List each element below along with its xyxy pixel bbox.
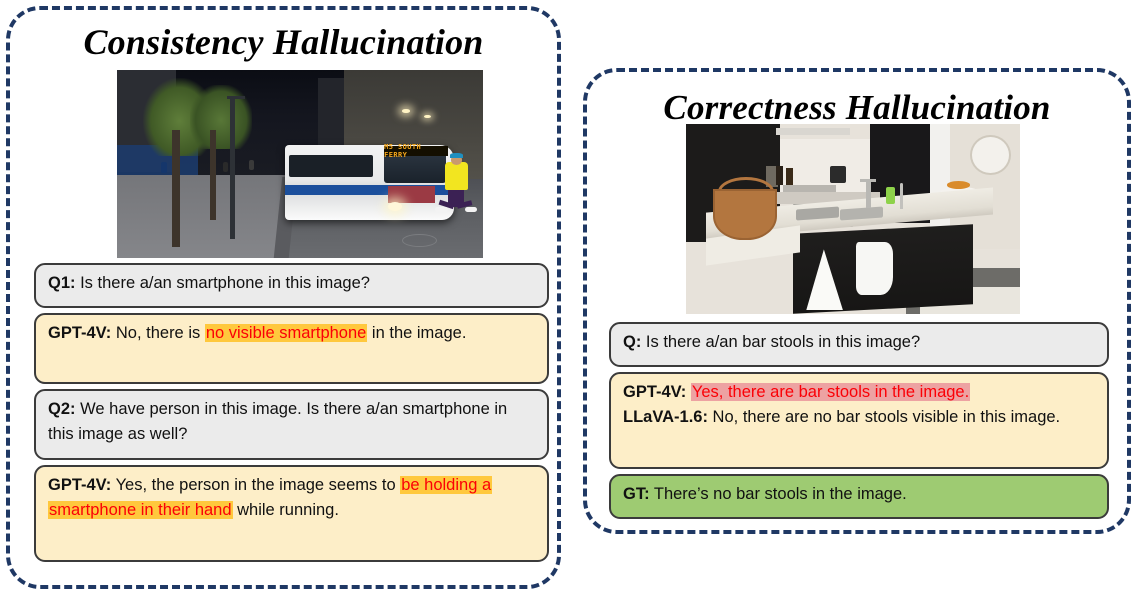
qa-bubble-answers: GPT-4V: Yes, there are bar stools in the… xyxy=(609,372,1109,469)
photo-faucet-2 xyxy=(900,183,904,210)
photo-tree-trunk-1 xyxy=(172,130,180,247)
panel-correctness-hallucination: Correctness Hallucination xyxy=(583,68,1131,534)
photo-tree-foliage-2 xyxy=(190,85,252,149)
qa-bubble-answer-2: GPT-4V: Yes, the person in the image see… xyxy=(34,465,549,562)
photo-bus-advertisement xyxy=(388,186,436,203)
qa-ground-truth-text: There’s no bar stools in the image. xyxy=(650,485,907,503)
qa-bubble-question-2: Q2: We have person in this image. Is the… xyxy=(34,389,549,460)
photo-pedestrian-1 xyxy=(161,162,167,173)
photo-sidewalk xyxy=(117,175,285,258)
photo-manhole-cover xyxy=(402,234,437,247)
qa-question-text: We have person in this image. Is there a… xyxy=(48,400,507,443)
qa-bubble-answer-1: GPT-4V: No, there is no visible smartpho… xyxy=(34,313,549,384)
photo-fruit xyxy=(947,181,970,189)
qa-answer-text-before: Yes, the person in the image seems to xyxy=(111,476,400,494)
kitchen-scene-photo xyxy=(686,124,1020,314)
qa-bubble-ground-truth: GT: There’s no bar stools in the image. xyxy=(609,474,1109,519)
street-scene-photo: M5 SOUTH FERRY xyxy=(117,70,483,258)
qa-speaker-label: Q: xyxy=(623,333,641,351)
qa-bubble-question: Q: Is there a/an bar stools in this imag… xyxy=(609,322,1109,367)
photo-runner-yellow-shirt xyxy=(445,162,469,190)
qa-speaker-label-gt: GT: xyxy=(623,485,650,503)
photo-white-towel-2 xyxy=(856,242,893,295)
photo-bus-side-windows xyxy=(289,155,373,178)
photo-cooktop xyxy=(783,185,836,193)
qa-speaker-label: Q2: xyxy=(48,400,76,418)
photo-lamp-post xyxy=(230,96,234,239)
photo-runner-shoe-1 xyxy=(435,207,447,212)
qa-question-text: Is there a/an bar stools in this image? xyxy=(641,333,920,351)
photo-tree-trunk-2 xyxy=(210,130,216,220)
photo-coffee-machine xyxy=(830,166,847,183)
photo-soap-dispenser xyxy=(886,187,895,204)
qa-hallucination-highlight: no visible smartphone xyxy=(205,324,368,342)
photo-wicker-basket xyxy=(713,189,777,241)
qa-speaker-label: GPT-4V: xyxy=(48,324,111,342)
bus-destination-text: M5 SOUTH FERRY xyxy=(384,143,448,159)
qa-answer-text-after: while running. xyxy=(233,501,339,519)
qa-speaker-label-gpt4v: GPT-4V: xyxy=(623,383,686,401)
qa-question-text: Is there a/an smartphone in this image? xyxy=(76,274,370,292)
photo-pedestrian-2 xyxy=(223,162,228,171)
qa-answer-text-llava: No, there are no bar stools visible in t… xyxy=(708,408,1060,426)
qa-speaker-label: Q1: xyxy=(48,274,76,292)
photo-runner-shoe-2 xyxy=(465,207,477,212)
photo-faucet-1 xyxy=(866,181,870,208)
photo-bottle-1 xyxy=(776,166,783,185)
photo-bus-destination-sign: M5 SOUTH FERRY xyxy=(384,146,448,156)
photo-wall-clock xyxy=(970,135,1011,175)
panel-title-consistency: Consistency Hallucination xyxy=(10,20,557,64)
qa-answer-text-before: No, there is xyxy=(111,324,205,342)
photo-range-hood xyxy=(776,128,849,136)
photo-pedestrian-3 xyxy=(249,160,254,169)
photo-runner-cap xyxy=(450,153,463,158)
qa-speaker-label: GPT-4V: xyxy=(48,476,111,494)
panel-consistency-hallucination: Consistency Hallucination M5 SOUTH FERRY xyxy=(6,6,561,589)
qa-speaker-label-llava: LLaVA-1.6: xyxy=(623,408,708,426)
photo-bottle-2 xyxy=(786,168,793,185)
qa-hallucination-highlight: Yes, there are bar stools in the image. xyxy=(691,383,970,401)
qa-bubble-question-1: Q1: Is there a/an smartphone in this ima… xyxy=(34,263,549,308)
qa-answer-text-after: in the image. xyxy=(367,324,466,342)
